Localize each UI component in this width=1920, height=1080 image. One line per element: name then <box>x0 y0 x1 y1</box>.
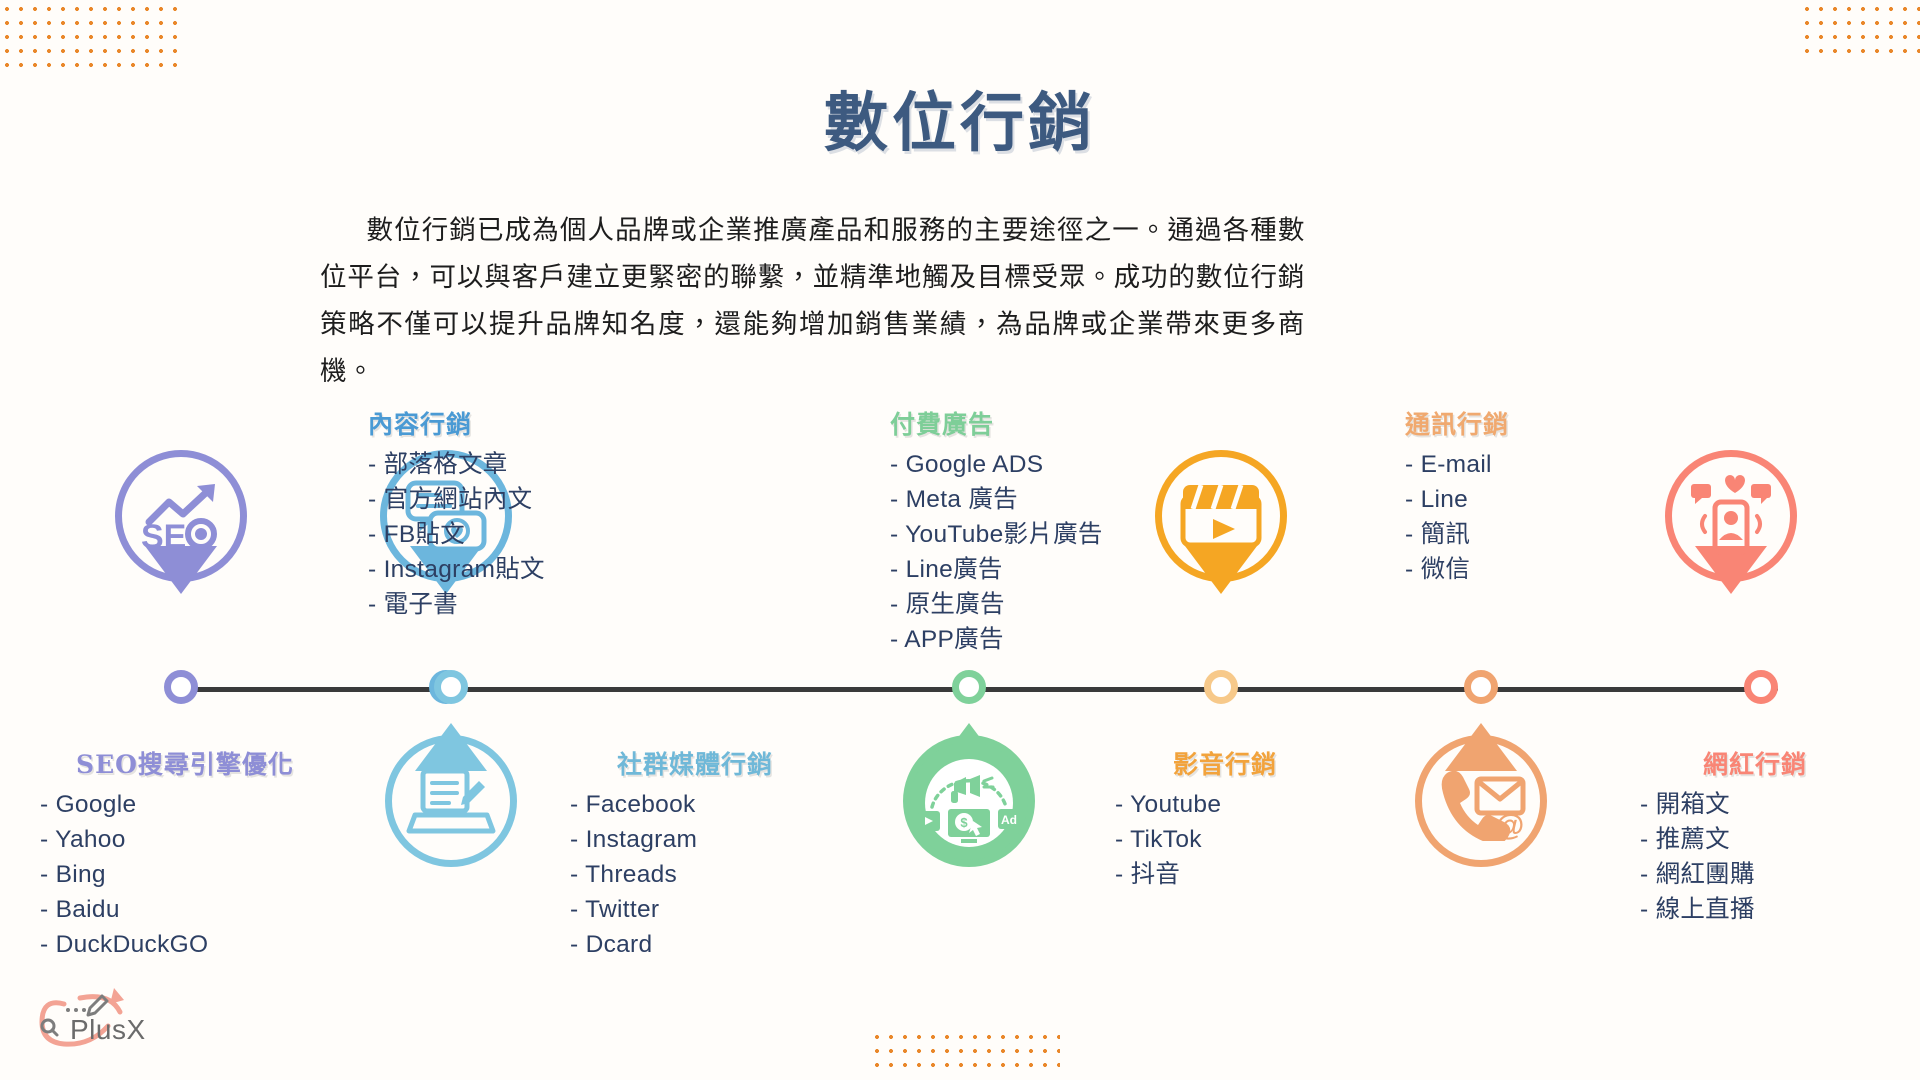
influencer-phone-icon <box>1665 450 1797 582</box>
dot-pattern-top-left <box>0 2 184 70</box>
list-item: 抖音 <box>1115 857 1335 892</box>
list-item: 開箱文 <box>1640 787 1870 822</box>
list-item: APP廣告 <box>890 622 1103 657</box>
list-item: Line廣告 <box>890 552 1103 587</box>
block-seo: SEO搜尋引擎優化 Google Yahoo Bing Baidu DuckDu… <box>40 745 330 962</box>
list-item: Youtube <box>1115 787 1335 822</box>
block-list-video: Youtube TikTok 抖音 <box>1115 787 1335 892</box>
block-social: 社群媒體行銷 Facebook Instagram Threads Twitte… <box>570 745 820 962</box>
block-paidads: 付費廣告 Google ADS Meta 廣告 YouTube影片廣告 Line… <box>890 405 1103 657</box>
list-item: Line <box>1405 482 1509 517</box>
block-list-social: Facebook Instagram Threads Twitter Dcard <box>570 787 820 962</box>
list-item: 微信 <box>1405 552 1509 587</box>
list-item: 部落格文章 <box>368 447 545 482</box>
block-influencer: 網紅行銷 開箱文 推薦文 網紅團購 線上直播 <box>1640 745 1870 927</box>
ad-cycle-icon: $ Ad <box>903 735 1035 867</box>
list-item: Dcard <box>570 927 820 962</box>
list-item: Baidu <box>40 892 330 927</box>
list-item: E-mail <box>1405 447 1509 482</box>
infographic-canvas: 數位行銷 數位行銷已成為個人品牌或企業推廣產品和服務的主要途徑之一。通過各種數位… <box>0 0 1920 1080</box>
block-list-content: 部落格文章 官方網站內文 FB貼文 Instagram貼文 電子書 <box>368 447 545 622</box>
block-title-video: 影音行銷 <box>1115 745 1335 781</box>
pin-paidads[interactable]: $ Ad <box>903 735 1035 867</box>
pin-seo[interactable]: SE <box>115 450 247 582</box>
svg-text:$: $ <box>960 815 968 830</box>
block-content: 內容行銷 部落格文章 官方網站內文 FB貼文 Instagram貼文 電子書 <box>368 405 545 622</box>
timeline-node-paidads[interactable] <box>952 670 986 704</box>
phone-email-icon: @ <box>1415 735 1547 867</box>
list-item: FB貼文 <box>368 517 545 552</box>
list-item: DuckDuckGO <box>40 927 330 962</box>
list-item: Bing <box>40 857 330 892</box>
list-item: Instagram貼文 <box>368 552 545 587</box>
timeline-node-video[interactable] <box>1204 670 1238 704</box>
svg-text:@: @ <box>1495 809 1524 841</box>
block-title-paidads: 付費廣告 <box>890 405 1103 441</box>
list-item: 原生廣告 <box>890 587 1103 622</box>
pin-social[interactable] <box>385 735 517 867</box>
block-title-messaging: 通訊行銷 <box>1405 405 1509 441</box>
block-title-content: 內容行銷 <box>368 405 545 441</box>
block-title-seo: SEO搜尋引擎優化 <box>40 745 330 781</box>
list-item: Yahoo <box>40 822 330 857</box>
dot-pattern-top-right <box>1800 2 1920 58</box>
block-title-social: 社群媒體行銷 <box>570 745 820 781</box>
block-list-messaging: E-mail Line 簡訊 微信 <box>1405 447 1509 587</box>
list-item: Meta 廣告 <box>890 482 1103 517</box>
block-title-influencer: 網紅行銷 <box>1640 745 1870 781</box>
list-item: Google <box>40 787 330 822</box>
list-item: 推薦文 <box>1640 822 1870 857</box>
timeline-node-messaging[interactable] <box>1464 670 1498 704</box>
list-item: Instagram <box>570 822 820 857</box>
seo-chart-icon: SE <box>115 450 247 582</box>
block-video: 影音行銷 Youtube TikTok 抖音 <box>1115 745 1335 892</box>
dot-pattern-bottom-center <box>870 1030 1060 1072</box>
timeline-node-influencer[interactable] <box>1744 670 1778 704</box>
laptop-writing-icon <box>385 735 517 867</box>
pin-influencer[interactable] <box>1665 450 1797 582</box>
list-item: TikTok <box>1115 822 1335 857</box>
pin-messaging[interactable]: @ <box>1415 735 1547 867</box>
intro-text: 數位行銷已成為個人品牌或企業推廣產品和服務的主要途徑之一。通過各種數位平台，可以… <box>320 215 1305 386</box>
pin-video[interactable] <box>1155 450 1287 582</box>
page-title: 數位行銷 <box>0 72 1920 164</box>
list-item: 線上直播 <box>1640 892 1870 927</box>
list-item: 電子書 <box>368 587 545 622</box>
list-item: YouTube影片廣告 <box>890 517 1103 552</box>
timeline-node-seo[interactable] <box>164 670 198 704</box>
intro-paragraph: 數位行銷已成為個人品牌或企業推廣產品和服務的主要途徑之一。通過各種數位平台，可以… <box>320 207 1305 395</box>
clapperboard-play-icon <box>1155 450 1287 582</box>
list-item: 簡訊 <box>1405 517 1509 552</box>
list-item: Threads <box>570 857 820 892</box>
block-messaging: 通訊行銷 E-mail Line 簡訊 微信 <box>1405 405 1509 587</box>
logo-text: PlusX <box>70 1014 146 1046</box>
list-item: 網紅團購 <box>1640 857 1870 892</box>
svg-text:SE: SE <box>141 518 186 556</box>
list-item: 官方網站內文 <box>368 482 545 517</box>
list-item: Google ADS <box>890 447 1103 482</box>
svg-text:Ad: Ad <box>1001 813 1017 827</box>
plusx-logo: PlusX <box>18 984 168 1070</box>
block-list-seo: Google Yahoo Bing Baidu DuckDuckGO <box>40 787 330 962</box>
block-list-influencer: 開箱文 推薦文 網紅團購 線上直播 <box>1640 787 1870 927</box>
list-item: Twitter <box>570 892 820 927</box>
block-list-paidads: Google ADS Meta 廣告 YouTube影片廣告 Line廣告 原生… <box>890 447 1103 657</box>
list-item: Facebook <box>570 787 820 822</box>
timeline-node-social[interactable] <box>434 670 468 704</box>
